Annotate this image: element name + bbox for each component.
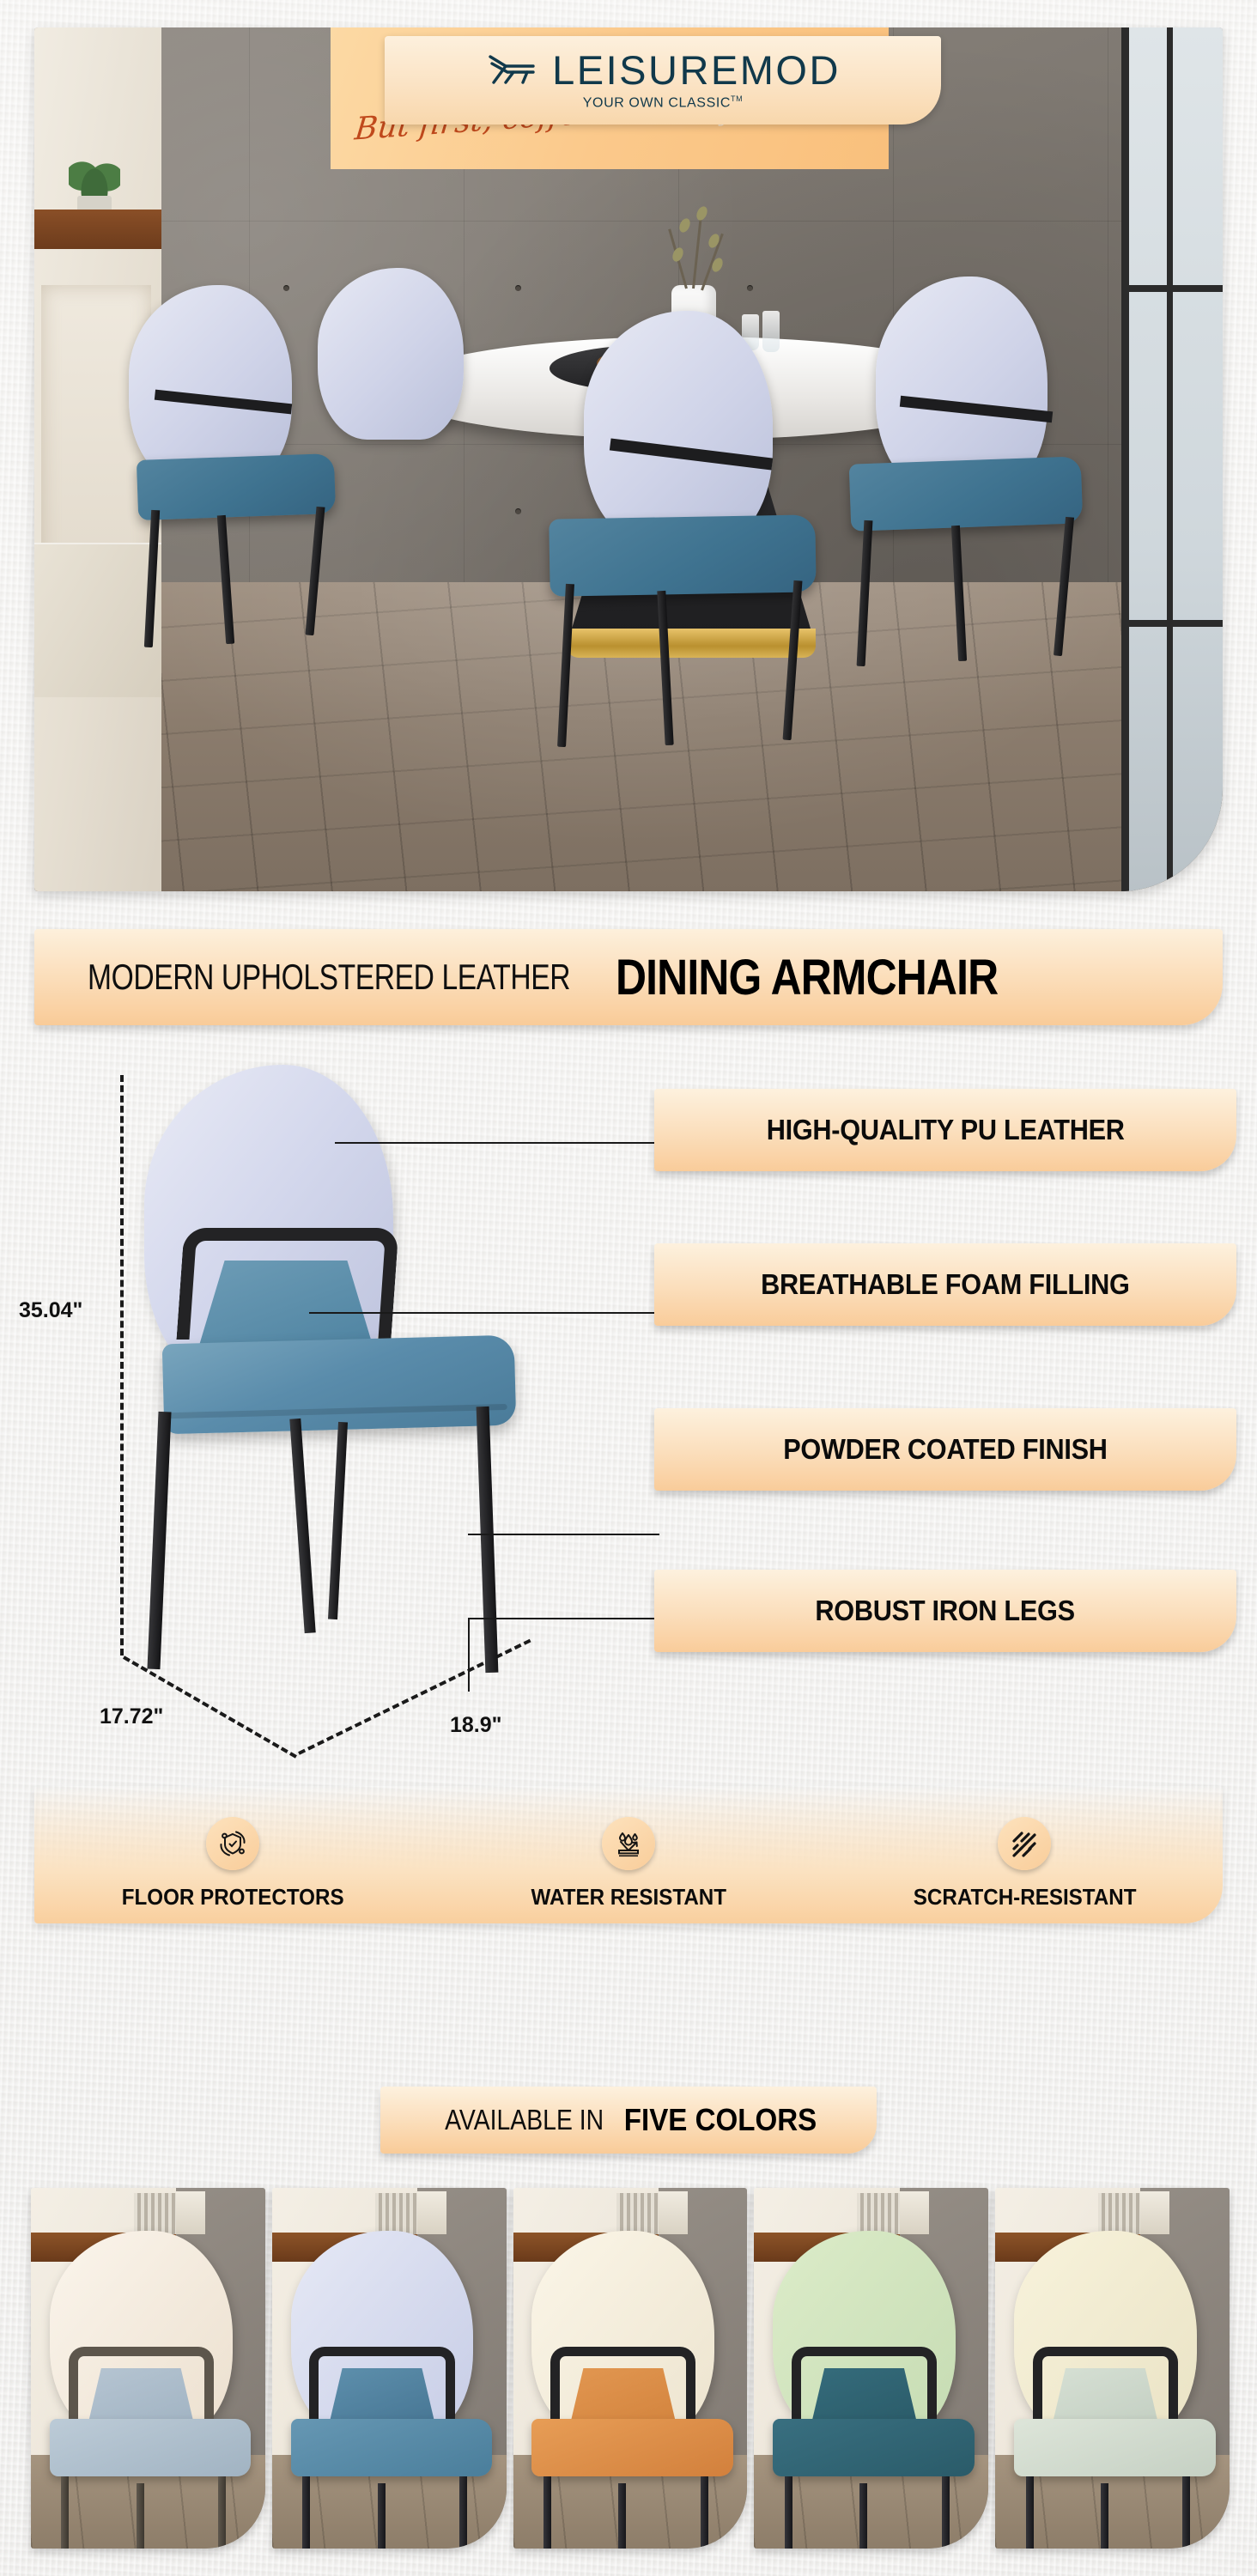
chair-leg-center xyxy=(289,1419,315,1633)
dimension-height-line xyxy=(120,1075,124,1656)
color-swatch-sage-back-teal-seat[interactable] xyxy=(754,2188,988,2549)
feature-pill-iron-legs: ROBUST IRON LEGS xyxy=(654,1570,1236,1652)
feature-label: HIGH-QUALITY PU LEATHER xyxy=(766,1114,1124,1146)
hero-chair-right xyxy=(850,276,1133,654)
scratch-lines-icon xyxy=(998,1817,1051,1870)
shield-check-icon xyxy=(206,1817,259,1870)
hero-chair-back-left xyxy=(318,268,541,526)
color-swatch-cream-back-gray-blue-seat[interactable] xyxy=(31,2188,265,2549)
leader-line-iron-legs xyxy=(468,1618,659,1619)
benefits-row: FLOOR PROTECTORS WATER RESISTANT xyxy=(34,1795,1223,1932)
lounge-chair-icon xyxy=(485,49,538,91)
chair-leg-front-left xyxy=(147,1412,171,1669)
color-swatch-cream-back-orange-seat[interactable] xyxy=(513,2188,748,2549)
chair-leg-front-right xyxy=(477,1406,499,1673)
swatch-seat xyxy=(531,2419,733,2476)
benefit-label: WATER RESISTANT xyxy=(531,1884,726,1911)
product-diagram-chair xyxy=(129,1065,541,1700)
color-swatch-lavender-back-blue-seat[interactable] xyxy=(272,2188,507,2549)
brand-logo-plate: LEISUREMOD YOUR OWN CLASSICTM xyxy=(385,36,941,125)
color-swatch-gallery xyxy=(31,2188,1230,2549)
swatch-seat xyxy=(1014,2419,1216,2476)
wood-shelf xyxy=(34,210,161,249)
feature-label: BREATHABLE FOAM FILLING xyxy=(761,1268,1129,1301)
brand-tagline: YOUR OWN CLASSICTM xyxy=(583,94,744,111)
feature-pill-pu-leather: HIGH-QUALITY PU LEATHER xyxy=(654,1089,1236,1171)
leader-line-iron-legs-riser xyxy=(468,1618,470,1692)
page-title: DINING ARMCHAIR xyxy=(616,949,998,1006)
feature-pill-foam: BREATHABLE FOAM FILLING xyxy=(654,1243,1236,1326)
leader-line-pu-leather xyxy=(335,1142,659,1144)
feature-pill-powder-coat: POWDER COATED FINISH xyxy=(654,1408,1236,1491)
chair-leg-rear xyxy=(328,1422,348,1619)
water-droplets-repel-icon xyxy=(602,1817,655,1870)
hero-lifestyle-image: But first, coffee! stay awhile, sip slow… xyxy=(34,27,1223,891)
title-light-text: MODERN UPHOLSTERED LEATHER xyxy=(88,957,570,998)
available-colors-banner: AVAILABLE IN FIVE COLORS xyxy=(380,2087,877,2154)
chair-seat-cushion xyxy=(162,1335,517,1435)
benefit-floor-protectors: FLOOR PROTECTORS xyxy=(34,1817,430,1911)
dimension-depth-label: 17.72" xyxy=(100,1704,163,1729)
benefit-label: FLOOR PROTECTORS xyxy=(121,1884,343,1911)
swatch-seat xyxy=(773,2419,975,2476)
colors-banner-light-text: AVAILABLE IN xyxy=(445,2104,604,2136)
chair-metal-arm-frame xyxy=(176,1228,398,1340)
leader-line-foam xyxy=(309,1312,659,1314)
leader-line-powder-coat xyxy=(468,1534,659,1535)
dimension-width-label: 18.9" xyxy=(450,1713,502,1738)
window xyxy=(1121,27,1223,891)
color-swatch-ivory-back-sage-seat[interactable] xyxy=(995,2188,1230,2549)
feature-label: POWDER COATED FINISH xyxy=(783,1433,1107,1466)
hero-chair-center xyxy=(550,311,859,723)
benefit-scratch-resistant: SCRATCH-RESISTANT xyxy=(827,1817,1223,1911)
benefit-water-resistant: WATER RESISTANT xyxy=(430,1817,826,1911)
benefit-label: SCRATCH-RESISTANT xyxy=(913,1884,1136,1911)
feature-label: ROBUST IRON LEGS xyxy=(816,1595,1075,1627)
brand-name: LEISUREMOD xyxy=(552,50,841,90)
swatch-seat xyxy=(50,2419,252,2476)
infographic-page: But first, coffee! stay awhile, sip slow… xyxy=(0,0,1257,2576)
dimension-height-label: 35.04" xyxy=(19,1298,82,1323)
product-title-bar: MODERN UPHOLSTERED LEATHER DINING ARMCHA… xyxy=(34,929,1223,1025)
colors-banner-bold-text: FIVE COLORS xyxy=(623,2102,817,2138)
swatch-seat xyxy=(291,2419,493,2476)
